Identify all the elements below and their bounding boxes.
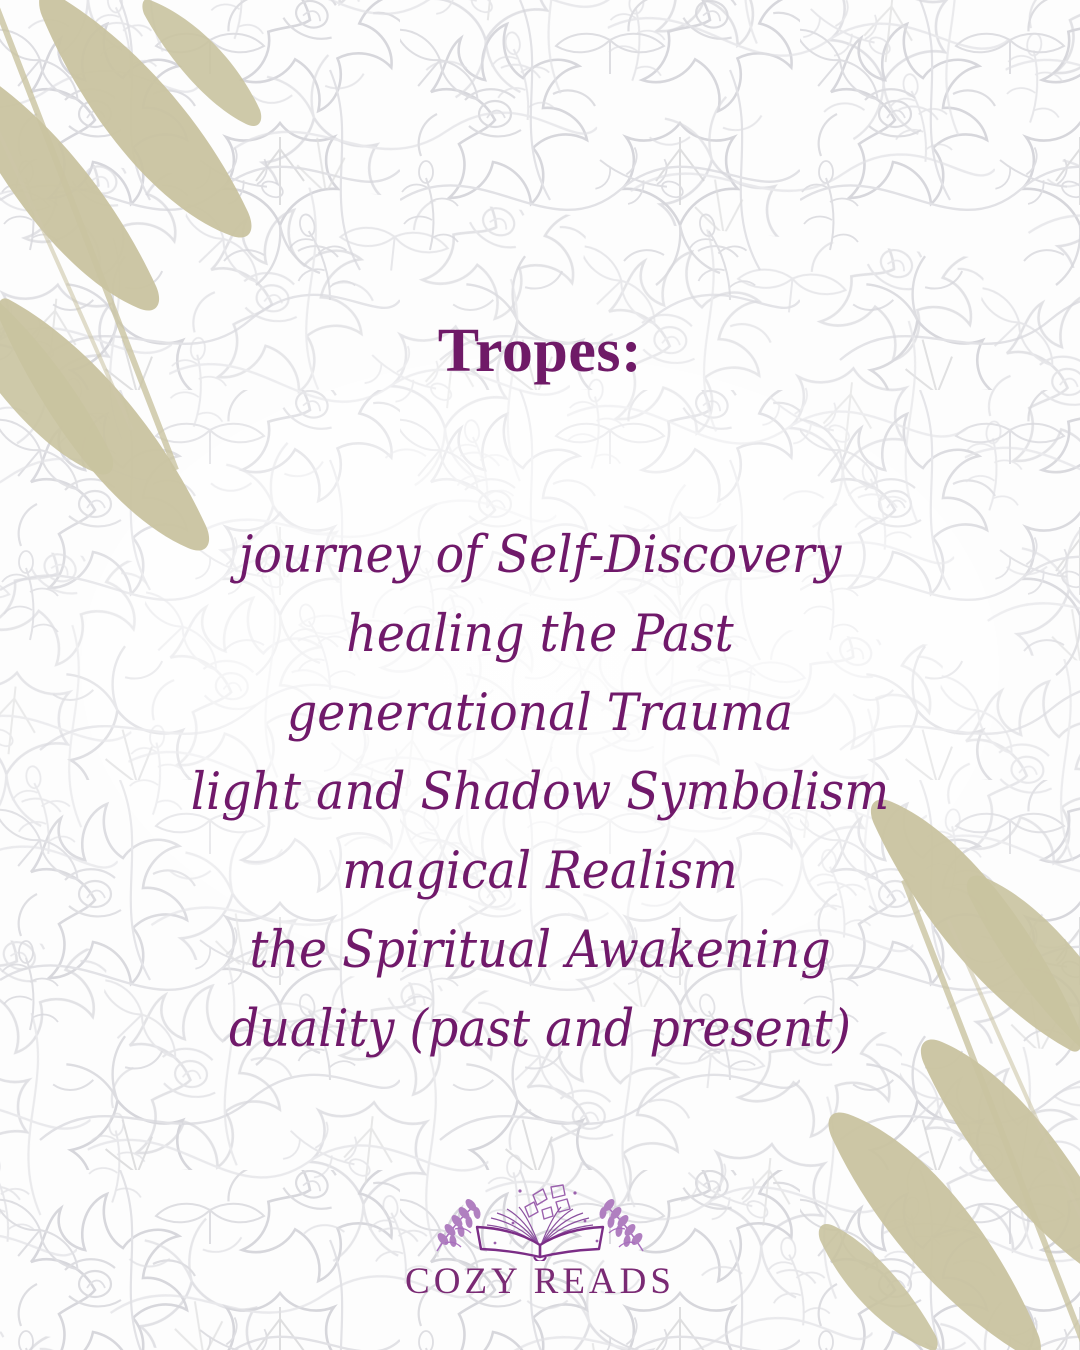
content-container: Tropes: journey of Self-Discovery healin… — [0, 0, 1080, 1350]
logo-wordmark: COZY READS — [405, 1263, 675, 1300]
list-item: light and Shadow Symbolism — [38, 753, 1042, 832]
list-item: duality (past and present) — [38, 990, 1042, 1069]
list-item: the Spiritual Awakening — [38, 911, 1042, 990]
list-item: healing the Past — [38, 595, 1042, 674]
brand-logo: COZY READS — [390, 1183, 690, 1300]
list-item: magical Realism — [38, 832, 1042, 911]
list-item: generational Trauma — [38, 674, 1042, 753]
tropes-list: journey of Self-Discovery healing the Pa… — [0, 516, 1080, 1069]
open-book-with-lavender-icon — [425, 1183, 655, 1261]
page-title: Tropes: — [438, 320, 642, 382]
list-item: journey of Self-Discovery — [38, 516, 1042, 595]
post-canvas: Tropes: journey of Self-Discovery healin… — [0, 0, 1080, 1350]
